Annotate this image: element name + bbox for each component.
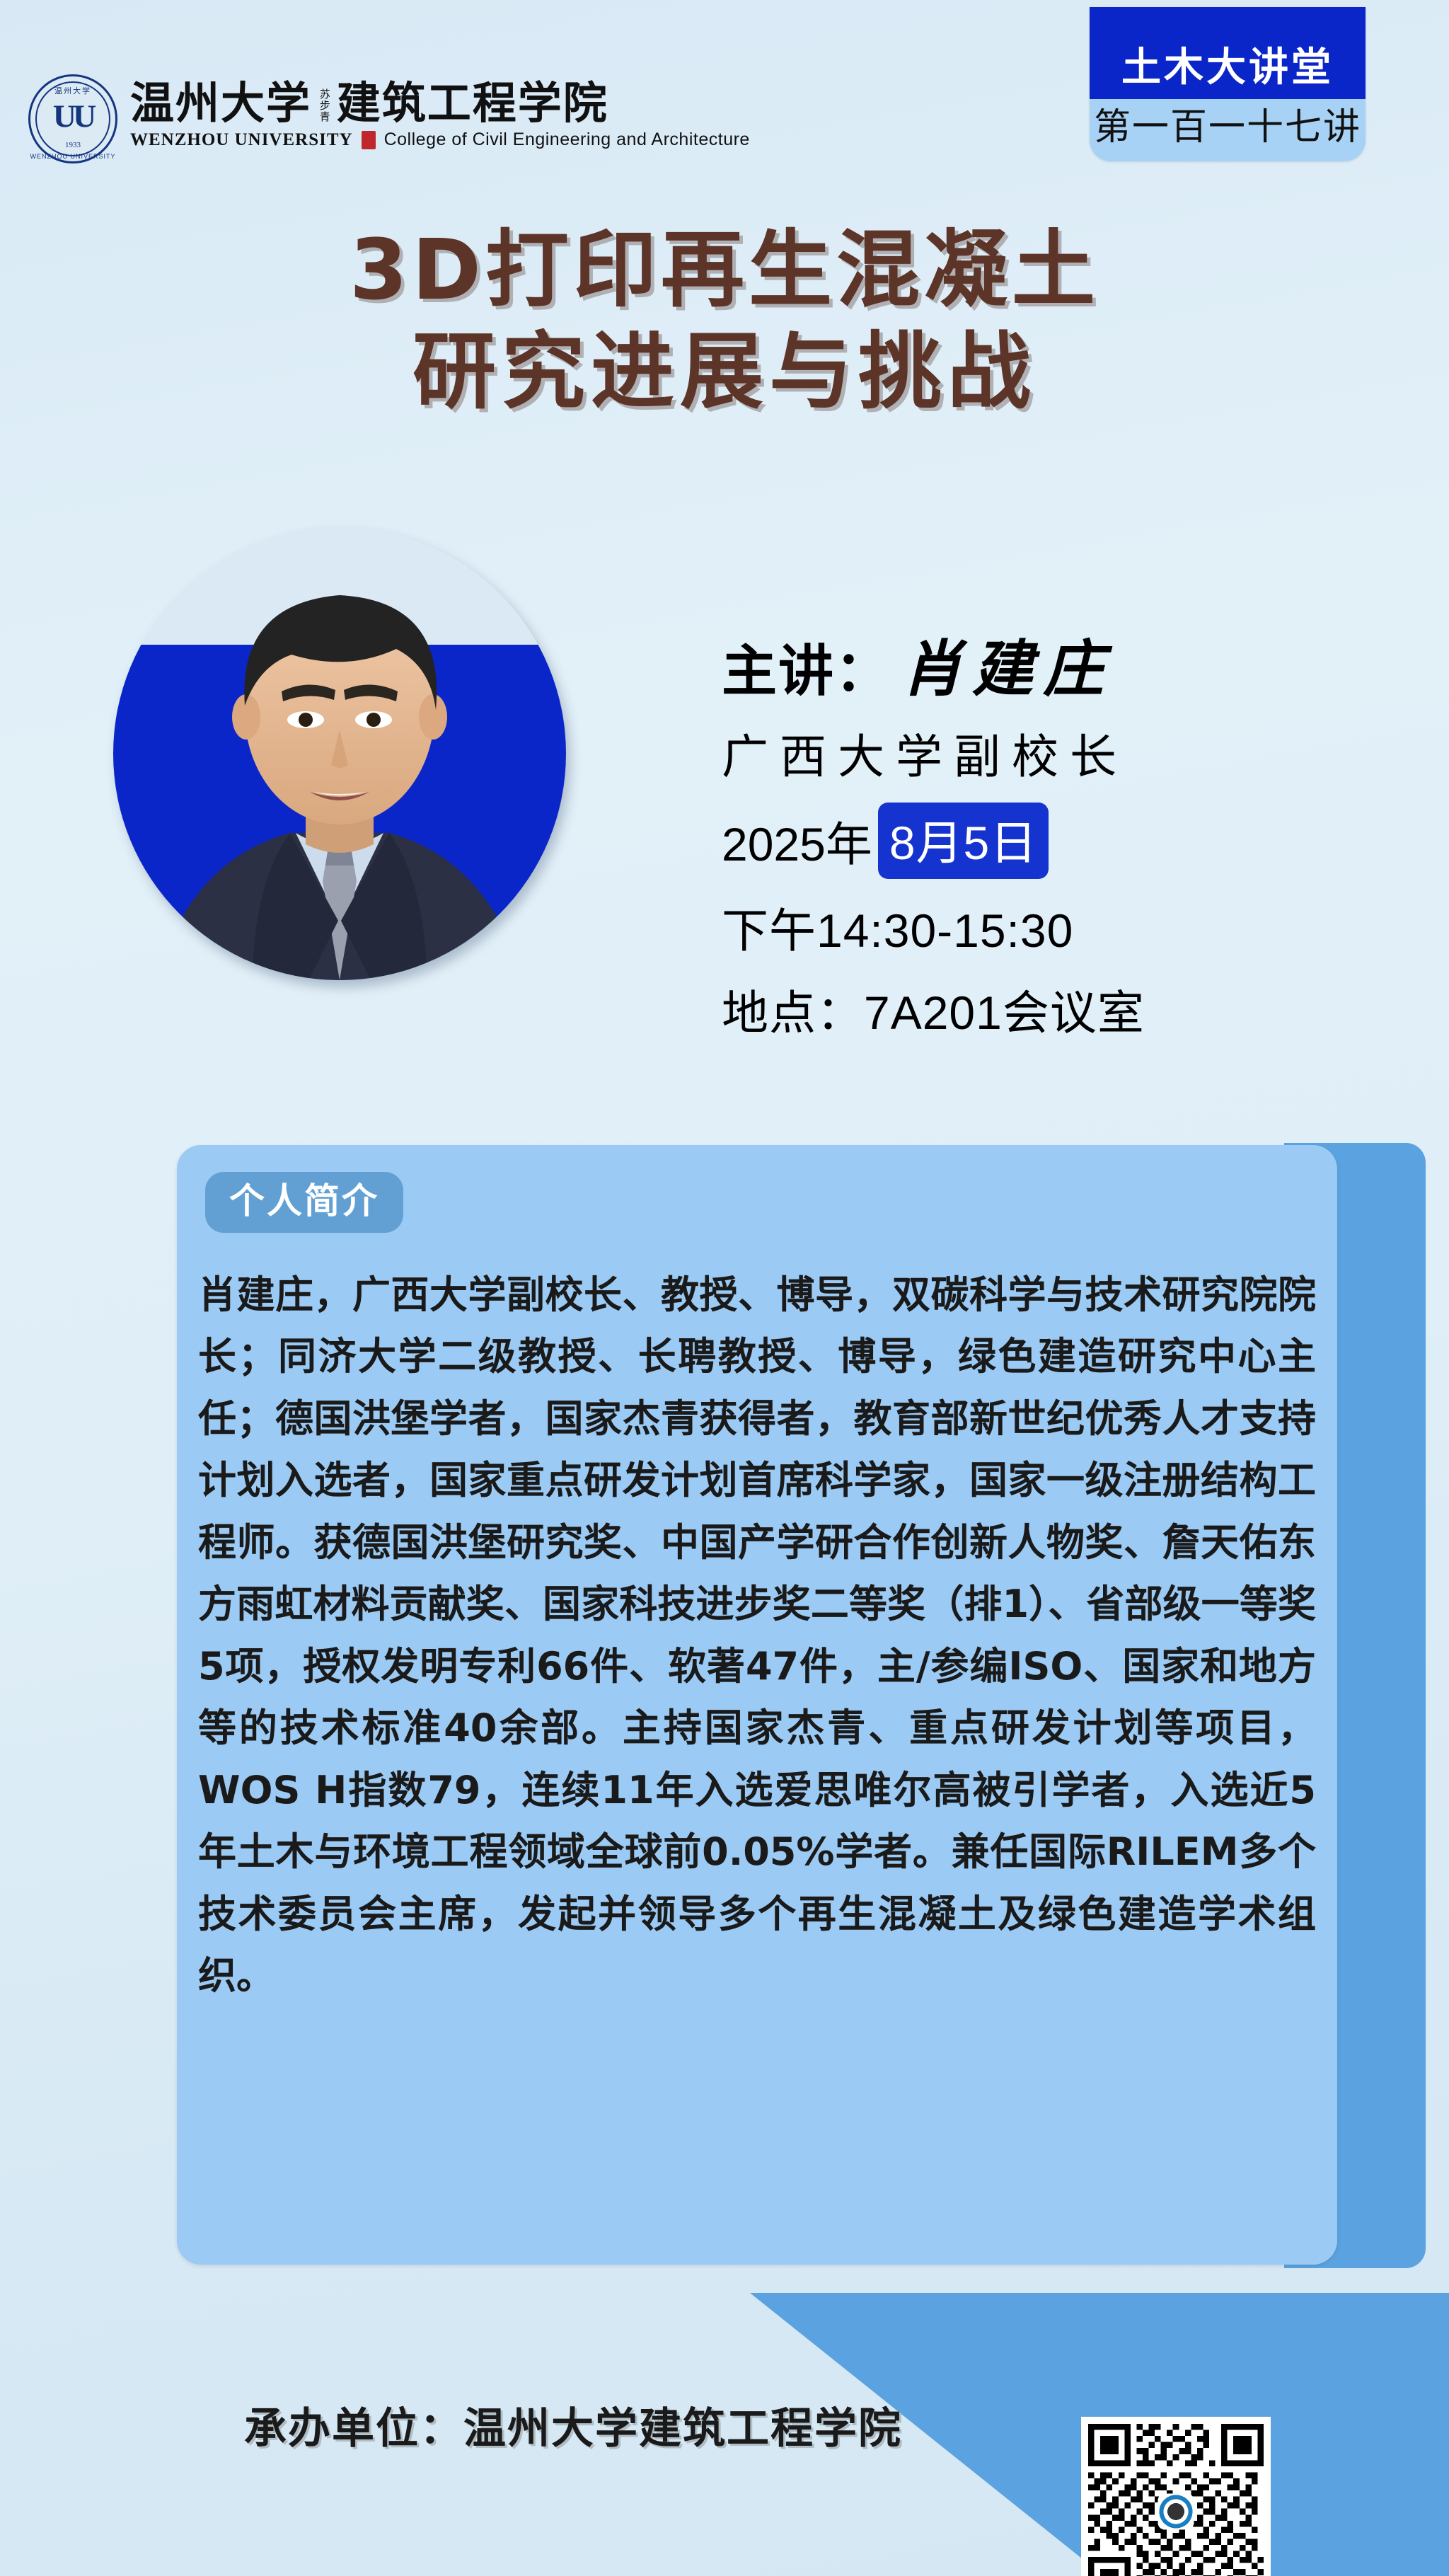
speaker-label: 主讲： (722, 627, 891, 706)
university-name-cn: 温州大学 (130, 81, 311, 125)
brand-wordmark: 温州大学 苏步青 建筑工程学院 WENZHOU UNIVERSITY Colle… (130, 74, 750, 150)
calligraphy-signature: 苏步青 (318, 88, 330, 125)
brand-header: 温州大学 UU 1933 WENZHOU UNIVERSITY 温州大学 苏步青… (28, 74, 750, 163)
speaker-info: 主讲： 肖建庄 广西大学副校长 2025年 8月5日 下午14:30-15:30… (722, 619, 1429, 1043)
series-name: 土木大讲堂 (1090, 7, 1366, 99)
university-seal-icon: 温州大学 UU 1933 WENZHOU UNIVERSITY (28, 74, 117, 163)
qr-code-icon (1088, 2424, 1264, 2576)
seal-ring-bottom-text: WENZHOU UNIVERSITY (30, 153, 115, 160)
lecture-series-badge: 土木大讲堂 第一百一十七讲 (1090, 7, 1366, 161)
speaker-portrait (113, 527, 566, 980)
college-name-en: College of Civil Engineering and Archite… (384, 130, 750, 150)
university-name-en: WENZHOU UNIVERSITY (130, 130, 353, 150)
title-line-2: 研究进展与挑战 (0, 321, 1449, 423)
bio-section-chip: 个人简介 (205, 1172, 403, 1233)
seal-year: 1933 (65, 141, 81, 149)
bio-text: 肖建庄，广西大学副校长、教授、博导，双碳科学与技术研究院院长；同济大学二级教授、… (198, 1264, 1316, 2007)
speaker-name: 肖建庄 (901, 619, 1114, 708)
bio-card: 个人简介 肖建庄，广西大学副校长、教授、博导，双碳科学与技术研究院院长；同济大学… (177, 1145, 1337, 2265)
event-time: 下午14:30-15:30 (722, 893, 1429, 961)
page-title: 3D打印再生混凝土 研究进展与挑战 (0, 219, 1449, 423)
seal-monogram: UU (53, 98, 93, 135)
portrait-illustration (113, 527, 566, 980)
event-date-highlight: 8月5日 (878, 803, 1049, 879)
event-date: 2025年 8月5日 (722, 803, 1429, 879)
title-line-1: 3D打印再生混凝土 (0, 219, 1449, 321)
poster-root: 温州大学 UU 1933 WENZHOU UNIVERSITY 温州大学 苏步青… (0, 0, 1449, 2576)
organizer-line: 承办单位：温州大学建筑工程学院 (244, 2394, 902, 2456)
event-location: 地点：7A201会议室 (722, 975, 1429, 1043)
episode-number: 第一百一十七讲 (1090, 99, 1366, 161)
seal-ring-top-text: 温州大学 (54, 85, 91, 96)
college-name-cn: 建筑工程学院 (337, 81, 608, 125)
red-seal-icon (362, 131, 376, 149)
event-date-year: 2025年 (722, 807, 872, 875)
qr-code[interactable] (1081, 2417, 1271, 2576)
speaker-position: 广西大学副校长 (722, 719, 1429, 787)
qr-block: 学院公众号二维码 (1070, 2417, 1282, 2576)
